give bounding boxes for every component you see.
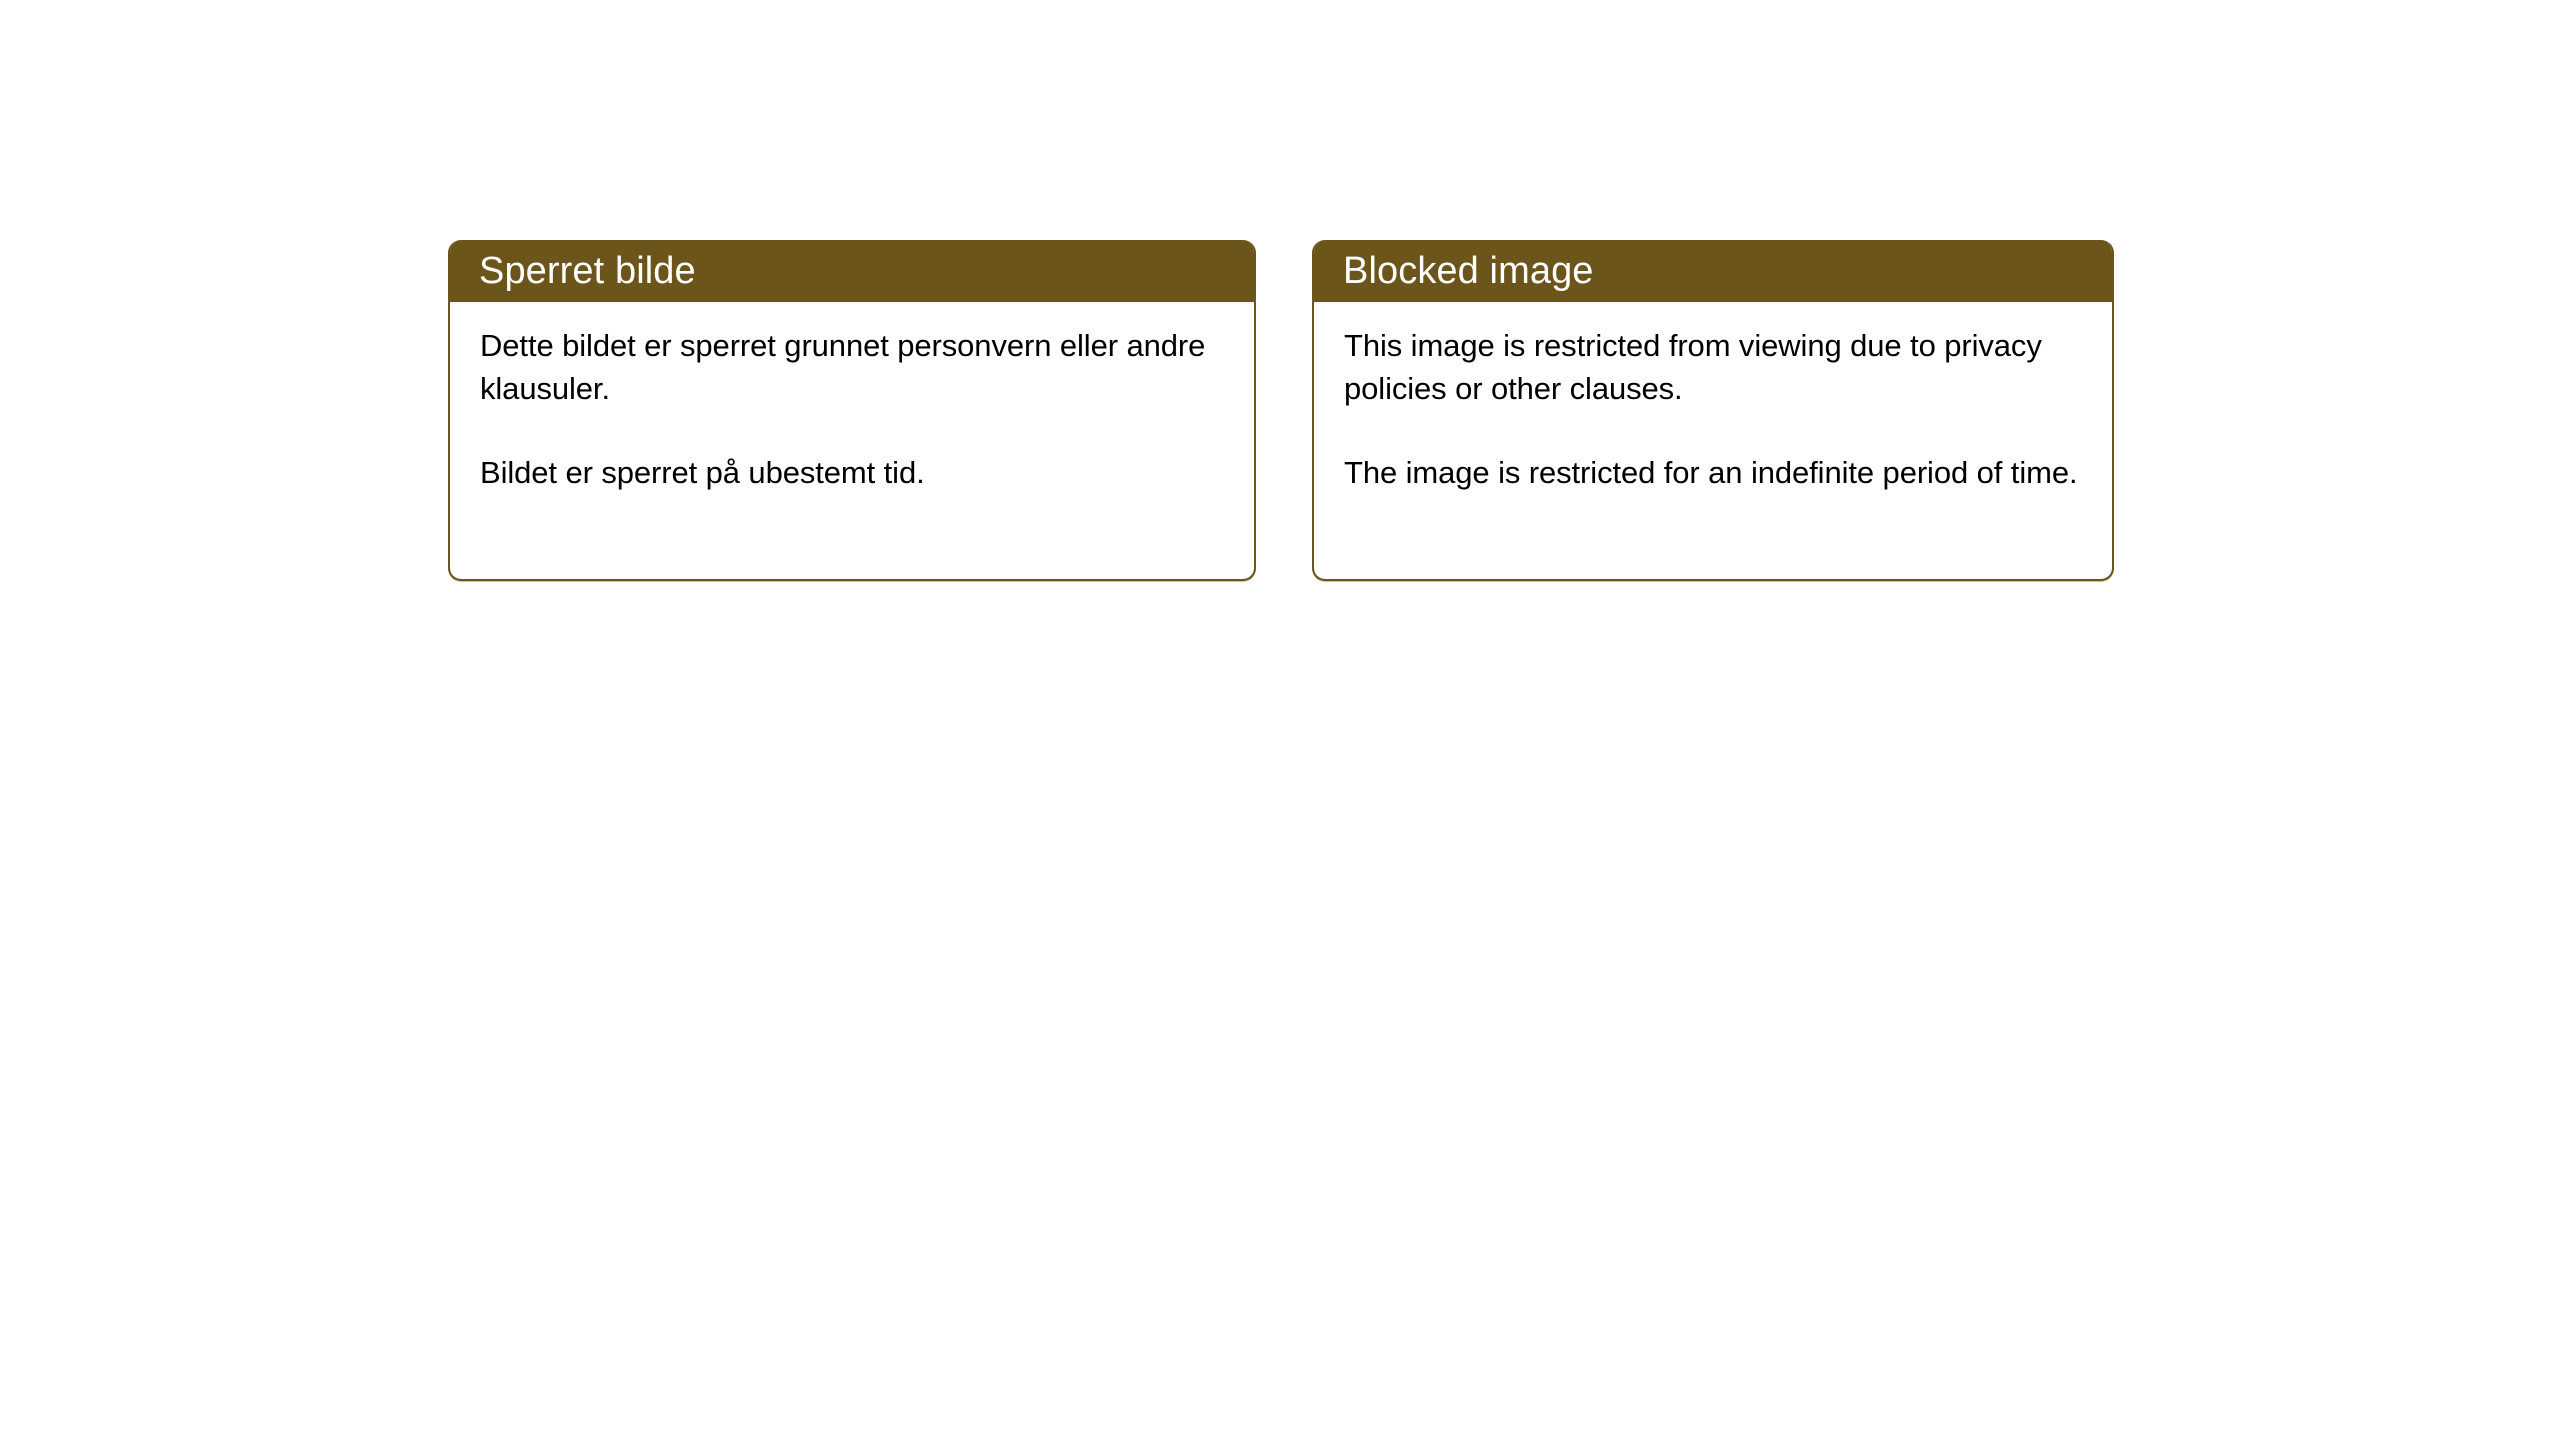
- blocked-image-notice-en: Blocked image This image is restricted f…: [1312, 240, 2114, 581]
- notice-title-no: Sperret bilde: [479, 252, 696, 290]
- notice-body-en: This image is restricted from viewing du…: [1314, 302, 2112, 494]
- notice-paragraph-duration-no: Bildet er sperret på ubestemt tid.: [480, 451, 1228, 494]
- notice-body-no: Dette bildet er sperret grunnet personve…: [450, 302, 1254, 494]
- notice-paragraph-duration-en: The image is restricted for an indefinit…: [1344, 451, 2086, 494]
- notice-paragraph-reason-en: This image is restricted from viewing du…: [1344, 324, 2086, 410]
- notice-paragraph-reason-no: Dette bildet er sperret grunnet personve…: [480, 324, 1228, 410]
- page-canvas: Sperret bilde Dette bildet er sperret gr…: [0, 0, 2560, 1440]
- notice-header-en: Blocked image: [1313, 240, 2113, 302]
- blocked-image-notice-no: Sperret bilde Dette bildet er sperret gr…: [448, 240, 1256, 581]
- notice-title-en: Blocked image: [1343, 252, 1594, 290]
- notice-header-no: Sperret bilde: [449, 240, 1255, 302]
